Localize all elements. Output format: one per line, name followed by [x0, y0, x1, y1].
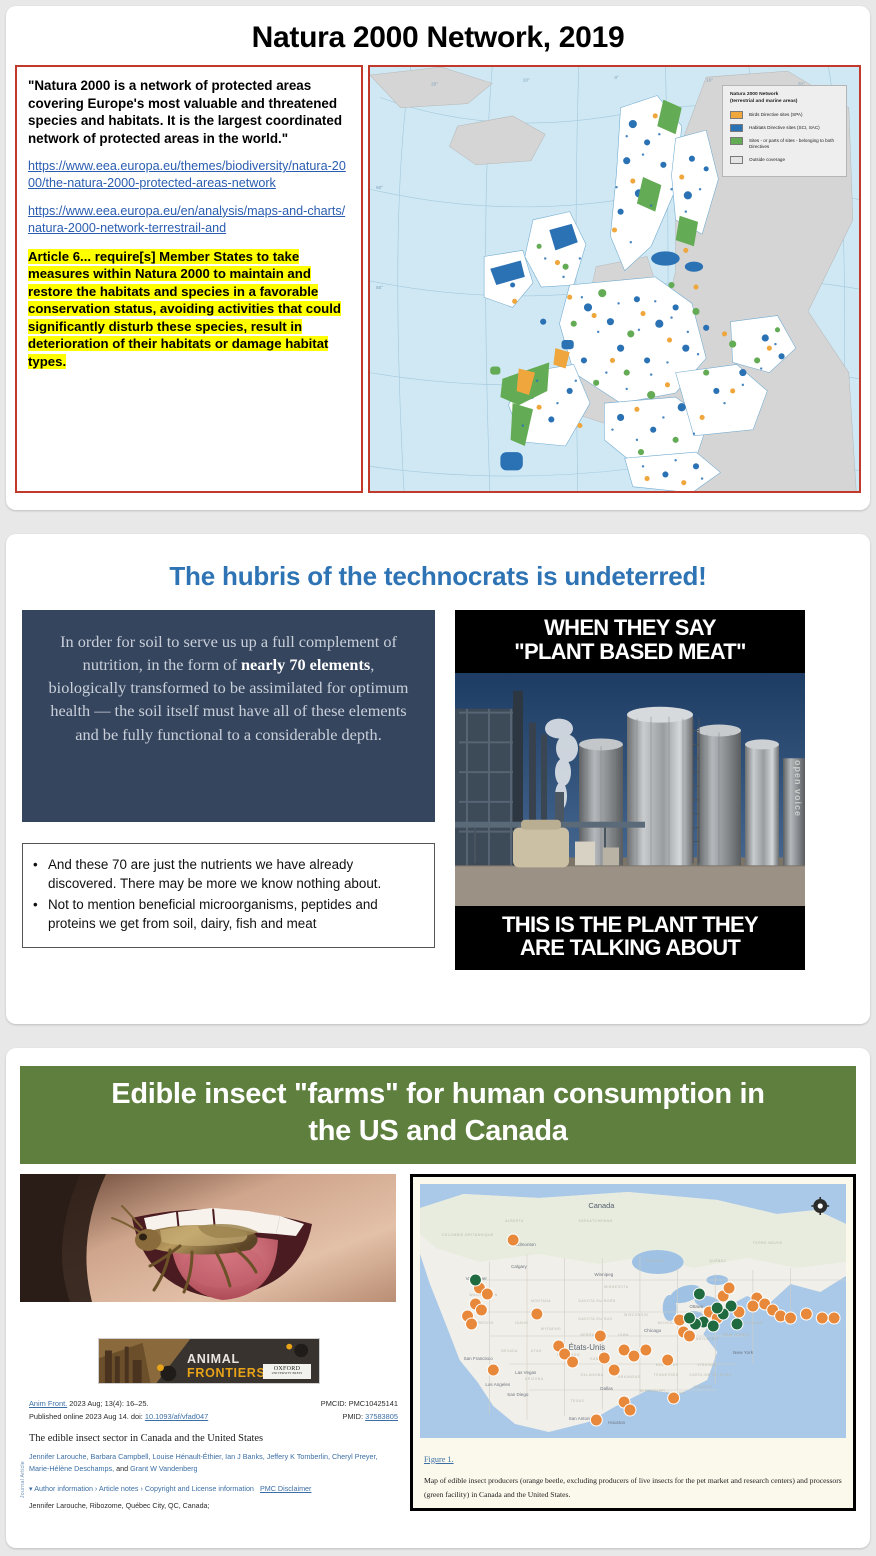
svg-text:Winnipeg: Winnipeg — [594, 1272, 613, 1277]
meme-bottom-caption: THIS IS THE PLANT THEY ARE TALKING ABOUT — [455, 906, 805, 970]
legend-item-habitats: Habitats Directive sites (SCI, SAC) — [730, 124, 840, 132]
svg-text:Canada: Canada — [588, 1201, 615, 1210]
svg-text:OKLAHOMA: OKLAHOMA — [580, 1373, 603, 1377]
pubmed-citation-block: Journal Article Anim Front. 2023 Aug; 13… — [20, 1398, 398, 1510]
svg-text:NEW JERSEY: NEW JERSEY — [723, 1333, 750, 1337]
svg-text:Dallas: Dallas — [600, 1386, 613, 1391]
svg-text:San Antonio: San Antonio — [569, 1416, 594, 1421]
map-legend: Natura 2000 Network (terrestrial and mar… — [722, 85, 847, 177]
meme-top-caption: WHEN THEY SAY "PLANT BASED MEAT" — [455, 610, 805, 671]
authors-text[interactable]: Jennifer Larouche, Barbara Campbell, Lou… — [29, 1452, 378, 1474]
plant-based-meat-meme: WHEN THEY SAY "PLANT BASED MEAT" — [455, 610, 805, 970]
svg-text:60°: 60° — [376, 185, 383, 190]
svg-text:MONTANA: MONTANA — [531, 1299, 551, 1303]
legend-swatch-outside-icon — [730, 156, 743, 164]
eea-link-1[interactable]: https://www.eea.europa.eu/themes/biodive… — [28, 158, 351, 192]
legend-item-outside: Outside coverage — [730, 156, 840, 164]
nutrient-bullet-list: • And these 70 are just the nutrients we… — [22, 843, 435, 948]
natura-text-panel: "Natura 2000 is a network of protected a… — [15, 65, 363, 493]
svg-text:ALBERTA: ALBERTA — [505, 1219, 524, 1223]
journal-issue: 2023 Aug; 13(4): 16–25. — [67, 1399, 148, 1408]
oxford-press-logo: OXFORD UNIVERSITY PRESS — [263, 1364, 311, 1379]
europe-map-panel: 20°10° 0°10°20° 60°50° Natura 2000 Netwo… — [368, 65, 861, 493]
svg-text:QUÉBEC: QUÉBEC — [709, 1258, 726, 1263]
svg-text:10°: 10° — [523, 77, 530, 82]
north-america-producers-map[interactable]: Canada Edmonton Calgary Vancouver Winnip… — [420, 1184, 846, 1438]
svg-text:Los Angeles: Los Angeles — [485, 1382, 510, 1387]
slide3-left-column: ANIMAL FRONTIERS OXFORD UNIVERSITY PRESS… — [20, 1174, 398, 1511]
meta-links-text[interactable]: ▾ Author information › Article notes › C… — [29, 1484, 254, 1493]
quote-bold-phrase: nearly 70 elements — [241, 655, 370, 674]
bullet-dot-icon: • — [33, 855, 48, 893]
svg-text:IOWA: IOWA — [618, 1333, 629, 1337]
author-affiliation: Jennifer Larouche, Ribozome, Québec City… — [29, 1502, 398, 1510]
page-title: Natura 2000 Network, 2019 — [6, 6, 870, 55]
svg-text:MISSISSIPPI: MISSISSIPPI — [640, 1389, 666, 1393]
svg-text:20°: 20° — [431, 81, 438, 86]
svg-text:NEVADA: NEVADA — [501, 1349, 518, 1353]
svg-text:UTAH: UTAH — [531, 1349, 542, 1353]
bullet-dot-icon: • — [33, 895, 48, 933]
figure-caption: Figure 1. Map of edible insect producers… — [420, 1438, 846, 1502]
svg-text:Chicago: Chicago — [644, 1328, 662, 1334]
svg-text:DAKOTA DU SUD: DAKOTA DU SUD — [579, 1317, 613, 1321]
legend-swatch-birds-icon — [730, 111, 743, 119]
svg-text:TENNESSEE: TENNESSEE — [654, 1373, 679, 1377]
svg-text:DAKOTA DU NORD: DAKOTA DU NORD — [579, 1299, 616, 1303]
grasshopper-in-mouth-photo — [20, 1174, 396, 1302]
svg-text:Las Vegas: Las Vegas — [515, 1370, 537, 1375]
slide-deck: Natura 2000 Network, 2019 "Natura 2000 i… — [0, 0, 876, 1556]
published-online-text: Published online 2023 Aug 14. doi: — [29, 1412, 145, 1421]
svg-text:SASKATCHEWAN: SASKATCHEWAN — [579, 1219, 613, 1223]
pmcid-label: PMCID: — [321, 1399, 349, 1408]
pmid-link[interactable]: 37583805 — [365, 1412, 398, 1421]
slide3-content: ANIMAL FRONTIERS OXFORD UNIVERSITY PRESS… — [6, 1164, 870, 1511]
svg-text:Calgary: Calgary — [511, 1264, 527, 1269]
svg-text:TEXAS: TEXAS — [571, 1399, 585, 1403]
svg-text:ONTARIO: ONTARIO — [646, 1259, 665, 1263]
last-author[interactable]: Grant W Vandenberg — [130, 1464, 197, 1473]
journal-article-sidebar-label: Journal Article — [20, 1402, 27, 1498]
article-6-highlight: Article 6... require[s] Member States to… — [28, 248, 351, 371]
journal-name-link[interactable]: Anim Front. — [29, 1399, 67, 1408]
svg-text:CAROLINE DU NORD: CAROLINE DU NORD — [689, 1373, 731, 1377]
slide-hubris-technocrats: The hubris of the technocrats is undeter… — [6, 534, 870, 1024]
pmcid-value: PMC10425141 — [349, 1399, 398, 1408]
soil-quote-box: In order for soil to serve us up a full … — [22, 610, 435, 822]
citation-line-1: Anim Front. 2023 Aug; 13(4): 16–25. PMCI… — [29, 1398, 398, 1411]
list-item: • And these 70 are just the nutrients we… — [33, 855, 422, 893]
legend-swatch-both-icon — [730, 137, 743, 145]
citation-line-2: Published online 2023 Aug 14. doi: 10.10… — [29, 1411, 398, 1424]
legend-swatch-habitats-icon — [730, 124, 743, 132]
svg-text:San Diego: San Diego — [507, 1392, 529, 1397]
svg-text:50°: 50° — [376, 285, 383, 290]
svg-text:VIRGINIE: VIRGINIE — [697, 1363, 716, 1367]
svg-text:0°: 0° — [614, 75, 619, 80]
pmid-label: PMID: — [343, 1412, 366, 1421]
article-meta-links[interactable]: ▾ Author information › Article notes › C… — [29, 1484, 398, 1493]
author-list: Jennifer Larouche, Barbara Campbell, Lou… — [29, 1451, 398, 1476]
doi-link[interactable]: 10.1093/af/vfad047 — [145, 1412, 208, 1421]
slide1-content: "Natura 2000 is a network of protected a… — [6, 55, 870, 493]
svg-text:Houston: Houston — [608, 1420, 625, 1425]
figure-panel: Canada Edmonton Calgary Vancouver Winnip… — [410, 1174, 856, 1511]
svg-text:San Francisco: San Francisco — [464, 1356, 493, 1361]
svg-text:Ottawa: Ottawa — [689, 1304, 703, 1309]
legend-title: Natura 2000 Network (terrestrial and mar… — [730, 92, 840, 105]
bullet-text: Not to mention beneficial microorganisms… — [48, 895, 422, 933]
svg-text:WISCONSIN: WISCONSIN — [624, 1313, 648, 1317]
slide2-title: The hubris of the technocrats is undeter… — [6, 534, 870, 592]
svg-text:COLOMBIE-BRITANNIQUE: COLOMBIE-BRITANNIQUE — [442, 1233, 494, 1237]
svg-text:10°: 10° — [706, 77, 713, 82]
industrial-plant-photo — [455, 673, 805, 906]
slide-natura-2000: Natura 2000 Network, 2019 "Natura 2000 i… — [6, 6, 870, 510]
eea-link-2[interactable]: https://www.eea.europa.eu/en/analysis/ma… — [28, 203, 351, 237]
svg-text:TERRE-NEUVE: TERRE-NEUVE — [753, 1241, 783, 1245]
slide3-title: Edible insect "farms" for human consumpt… — [20, 1066, 856, 1164]
legend-item-birds: Birds Directive sites (SPA) — [730, 111, 840, 119]
svg-text:GÉORGIE: GÉORGIE — [693, 1384, 713, 1389]
slide-edible-insect-farms: Edible insect "farms" for human consumpt… — [6, 1048, 870, 1548]
legend-item-both: Sites - or parts of sites - belonging to… — [730, 137, 840, 151]
svg-text:États-Unis: États-Unis — [569, 1343, 606, 1352]
figure-label-link[interactable]: Figure 1. — [424, 1455, 454, 1464]
slide2-content: In order for soil to serve us up a full … — [6, 592, 870, 970]
svg-text:OREGON: OREGON — [475, 1321, 493, 1325]
meme-watermark: open voice — [793, 760, 803, 817]
figure-caption-text: Map of edible insect producers (orange b… — [424, 1474, 842, 1502]
svg-text:MINNESOTA: MINNESOTA — [604, 1285, 629, 1289]
bullet-text: And these 70 are just the nutrients we h… — [48, 855, 422, 893]
svg-text:WYOMING: WYOMING — [541, 1327, 561, 1331]
svg-text:IDAHO: IDAHO — [515, 1321, 528, 1325]
svg-text:ARIZONA: ARIZONA — [525, 1377, 544, 1381]
slide2-left-column: In order for soil to serve us up a full … — [22, 610, 435, 970]
article-title: The edible insect sector in Canada and t… — [29, 1433, 398, 1444]
list-item: • Not to mention beneficial microorganis… — [33, 895, 422, 933]
svg-text:ARKANSAS: ARKANSAS — [618, 1375, 641, 1379]
animal-frontiers-logo: ANIMAL FRONTIERS OXFORD UNIVERSITY PRESS — [98, 1338, 320, 1384]
natura-quote: "Natura 2000 is a network of protected a… — [28, 77, 351, 147]
pmc-disclaimer-link[interactable]: PMC Disclaimer — [260, 1484, 312, 1493]
svg-text:New York: New York — [733, 1350, 754, 1356]
